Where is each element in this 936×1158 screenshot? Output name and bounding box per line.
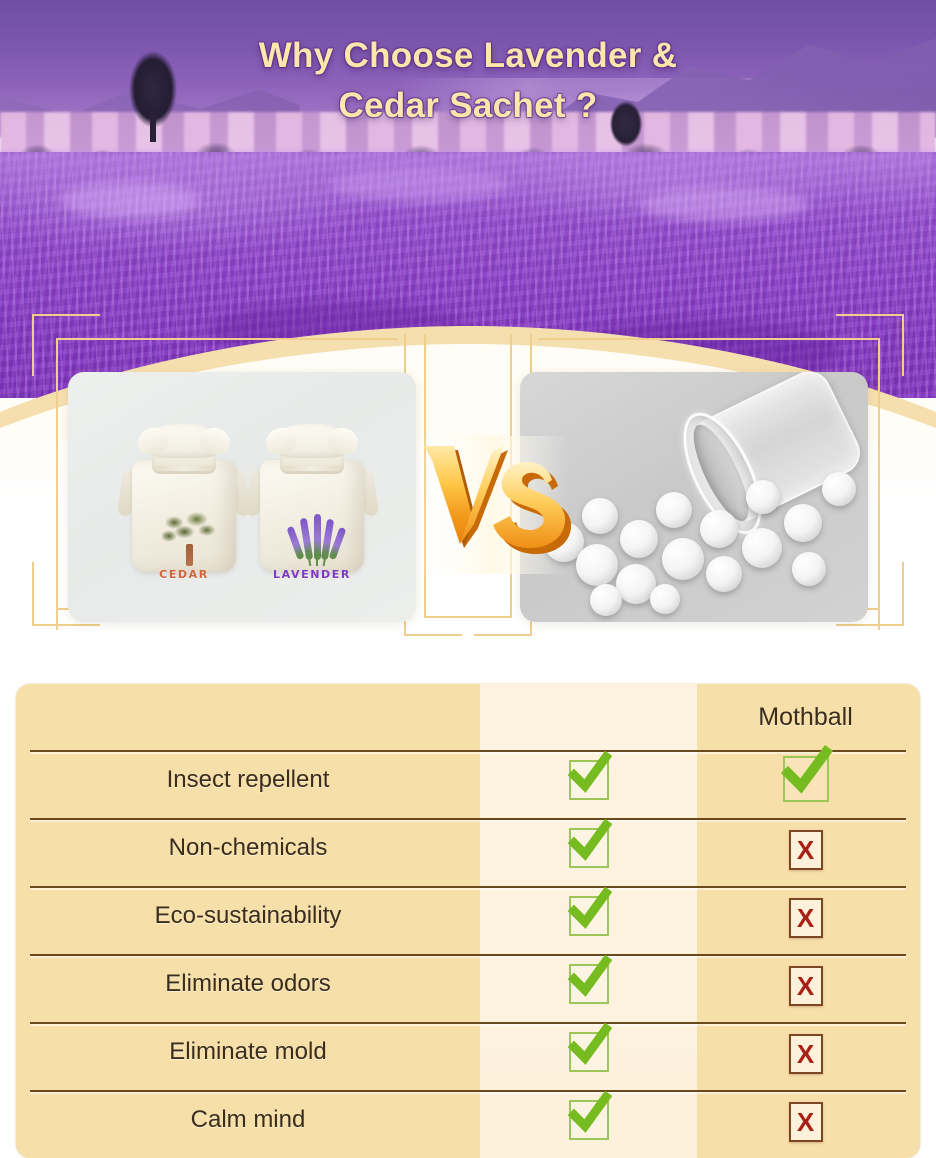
sachet-photo-panel: CEDAR LAVENDER <box>68 372 416 622</box>
row-label: Eliminate mold <box>16 1038 480 1066</box>
cedar-ball-check-icon <box>480 964 697 1009</box>
cedar-tree-icon <box>162 510 218 566</box>
bloom-highlight <box>60 182 200 218</box>
cedar-ball-check-icon <box>480 1032 697 1077</box>
row-label: Eliminate odors <box>16 970 480 998</box>
cross-glyph: X <box>789 898 823 938</box>
mothball <box>784 504 822 542</box>
mothball <box>792 552 826 586</box>
mothball <box>746 480 780 514</box>
bag-body: CEDAR <box>132 460 236 572</box>
bag-ruffle-top <box>142 424 226 458</box>
page-title-line-1: Why Choose Lavender & <box>259 36 678 75</box>
mothball <box>662 538 704 580</box>
mothball <box>822 472 856 506</box>
bloom-highlight <box>330 168 510 202</box>
bag-tie <box>282 466 342 471</box>
mothball-check-icon <box>697 756 914 807</box>
lavender-stem <box>316 550 318 566</box>
bag-ruffle-top <box>270 424 354 458</box>
cross-glyph: X <box>789 1034 823 1074</box>
vs-badge <box>412 436 572 574</box>
infographic-page: Why Choose Lavender & Cedar Sachet ? <box>0 0 936 1158</box>
mothball <box>576 544 618 586</box>
row-separator <box>30 886 906 888</box>
row-separator <box>30 818 906 820</box>
cedar-ball-check-icon <box>480 828 697 873</box>
tree-trunk <box>186 544 193 566</box>
mothball <box>706 556 742 592</box>
row-label: Non-chemicals <box>16 834 480 862</box>
row-label: Eco-sustainability <box>16 902 480 930</box>
cedar-sachet-bag: CEDAR <box>126 422 242 572</box>
glass-jar <box>659 372 868 552</box>
lavender-bag-label: LAVENDER <box>260 568 364 581</box>
mothball <box>656 492 692 528</box>
page-title: Why Choose Lavender & Cedar Sachet ? <box>0 31 936 130</box>
mothball <box>742 528 782 568</box>
mothball-cross-icon: X <box>697 898 914 938</box>
mothball <box>590 584 622 616</box>
cross-glyph: X <box>789 966 823 1006</box>
mothball-cross-icon: X <box>697 830 914 870</box>
cross-glyph: X <box>789 1102 823 1142</box>
row-separator <box>30 750 906 752</box>
row-separator <box>30 1090 906 1092</box>
cedar-ball-check-icon <box>480 1100 697 1145</box>
mothball-cross-icon: X <box>697 1102 914 1142</box>
row-label: Insect repellent <box>16 766 480 794</box>
bag-tie <box>154 466 214 471</box>
cedar-bag-label: CEDAR <box>132 568 236 581</box>
bloom-highlight <box>640 188 810 222</box>
lavender-sprigs-icon <box>288 504 346 566</box>
mothball <box>582 498 618 534</box>
cedar-ball-check-icon <box>480 896 697 941</box>
comparison-table: Cedar ball Mothball Insect repellent Non… <box>16 684 920 1158</box>
page-title-line-2: Cedar Sachet ? <box>338 86 597 125</box>
mothball <box>620 520 658 558</box>
row-separator <box>30 1022 906 1024</box>
cross-glyph: X <box>789 830 823 870</box>
row-separator <box>30 954 906 956</box>
mothball-cross-icon: X <box>697 966 914 1006</box>
column-header-mothball: Mothball <box>697 703 914 732</box>
row-label: Calm mind <box>16 1106 480 1134</box>
mothball-cross-icon: X <box>697 1034 914 1074</box>
mothball <box>700 510 738 548</box>
cedar-ball-check-icon <box>480 760 697 805</box>
lavender-sachet-bag: LAVENDER <box>254 422 370 572</box>
mothball-photo-panel <box>520 372 868 622</box>
mothball <box>650 584 680 614</box>
bag-body: LAVENDER <box>260 460 364 572</box>
